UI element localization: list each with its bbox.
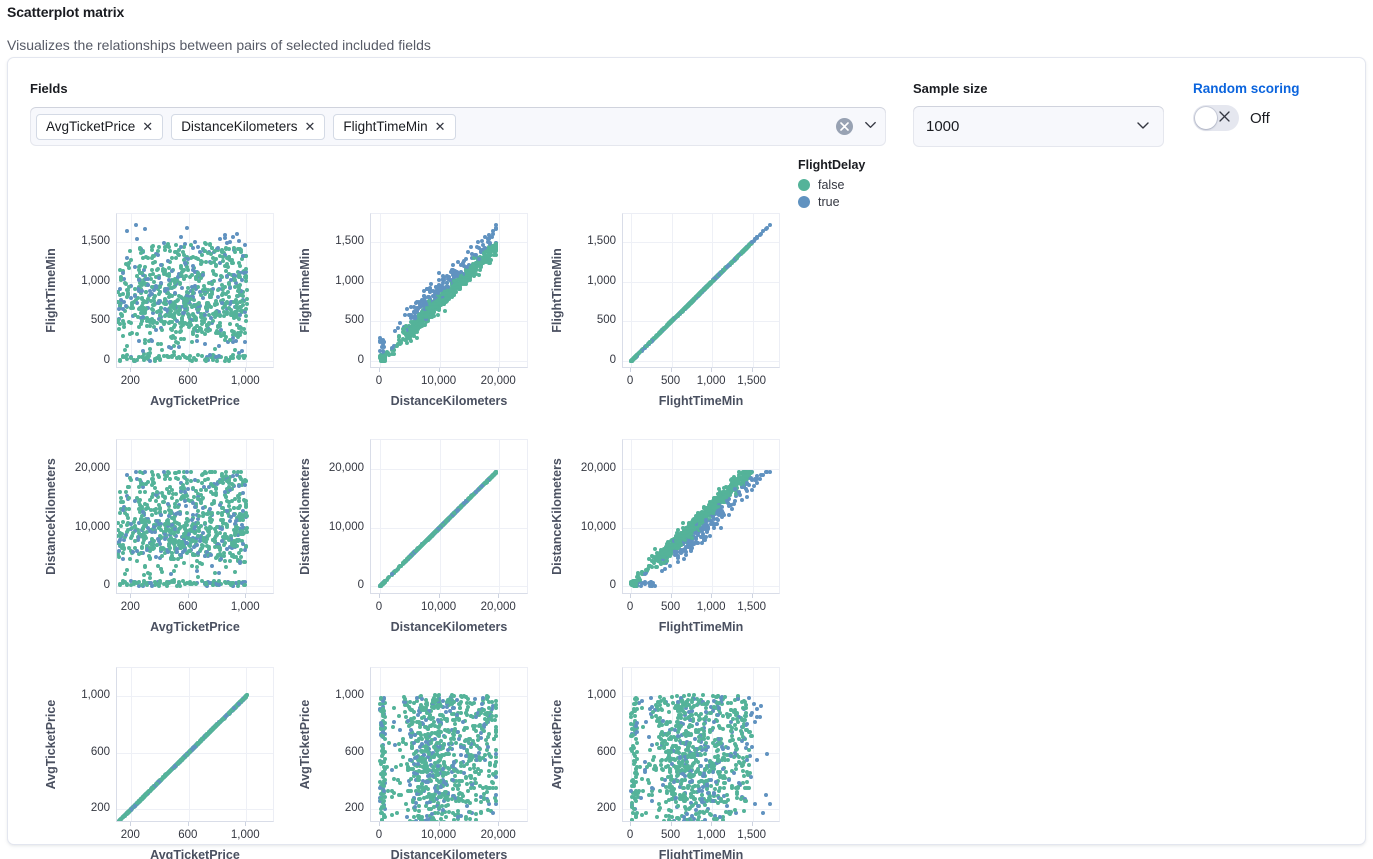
axis-tick-mark — [130, 368, 131, 372]
data-point — [168, 540, 172, 544]
data-point — [181, 550, 185, 554]
data-point — [173, 541, 177, 545]
data-point — [148, 273, 152, 277]
data-point — [216, 295, 220, 299]
x-axis-tick-label: 20,000 — [481, 601, 516, 613]
data-point — [152, 254, 156, 258]
data-point — [452, 283, 456, 287]
data-point — [195, 559, 199, 563]
x-axis-title: FlightTimeMin — [622, 394, 780, 408]
data-point — [163, 510, 167, 514]
data-point — [129, 478, 133, 482]
data-point — [195, 543, 199, 547]
data-point — [152, 299, 156, 303]
data-point — [437, 271, 441, 275]
data-point — [245, 302, 249, 306]
data-point — [159, 281, 163, 285]
gridline — [623, 282, 779, 283]
data-point — [165, 487, 169, 491]
x-axis-tick-label: 0 — [627, 375, 633, 387]
field-pill-flighttimemin[interactable]: FlightTimeMin ✕ — [333, 114, 455, 140]
data-point — [223, 264, 227, 268]
data-point — [148, 351, 152, 355]
data-point — [128, 557, 132, 561]
cross-icon — [1219, 109, 1230, 127]
data-point — [127, 496, 131, 500]
axis-tick-mark — [671, 368, 672, 372]
scatterplot-matrix: 2006001,00005001,0001,500AvgTicketPriceF… — [8, 151, 798, 841]
data-point — [141, 541, 145, 545]
data-point — [210, 246, 214, 250]
data-point — [158, 285, 162, 289]
data-point — [170, 496, 174, 500]
data-point — [127, 485, 131, 489]
data-point — [126, 528, 130, 532]
data-point — [160, 491, 164, 495]
data-point — [211, 538, 215, 542]
data-point — [125, 513, 129, 517]
data-point — [232, 555, 236, 559]
x-axis-tick-label: 200 — [121, 601, 140, 613]
data-point — [155, 268, 159, 272]
data-point — [204, 471, 208, 475]
data-point — [213, 347, 217, 351]
gridline — [371, 469, 527, 470]
x-axis-tick-label: 600 — [178, 375, 197, 387]
x-axis-tick-label: 0 — [376, 375, 382, 387]
y-axis-tick-label: 20,000 — [314, 462, 364, 474]
combobox-actions — [836, 117, 878, 137]
data-point — [195, 569, 199, 573]
gridline — [371, 321, 527, 322]
data-point — [159, 528, 163, 532]
data-point — [232, 513, 236, 517]
fields-label: Fields — [30, 81, 68, 96]
data-point — [188, 320, 192, 324]
data-point — [245, 288, 249, 292]
data-point — [232, 330, 236, 334]
data-point — [485, 479, 489, 483]
data-point — [182, 337, 186, 341]
data-point — [160, 554, 164, 558]
data-point — [492, 253, 496, 257]
data-point — [221, 259, 225, 263]
random-scoring-toggle[interactable] — [1193, 105, 1239, 131]
data-point — [121, 500, 125, 504]
data-point — [186, 487, 190, 491]
data-point — [182, 268, 186, 272]
data-point — [395, 344, 399, 348]
scatter-cell-r0-c2[interactable] — [622, 213, 780, 368]
data-point — [244, 279, 248, 283]
data-point — [170, 523, 174, 527]
data-point — [472, 256, 476, 260]
data-point — [474, 265, 478, 269]
data-point — [197, 279, 201, 283]
data-point — [121, 520, 125, 524]
data-point — [477, 273, 481, 277]
data-point — [222, 314, 226, 318]
data-point — [201, 496, 205, 500]
data-point — [177, 345, 181, 349]
data-point — [214, 331, 218, 335]
data-point — [235, 232, 239, 236]
data-point — [244, 505, 248, 509]
data-point — [174, 471, 178, 475]
field-pill-avgticketprice[interactable]: AvgTicketPrice ✕ — [36, 114, 163, 140]
data-point — [654, 335, 658, 339]
data-point — [166, 518, 170, 522]
data-point — [121, 557, 125, 561]
data-point — [212, 272, 216, 276]
data-point — [240, 349, 244, 353]
clear-circle-icon[interactable] — [836, 118, 853, 135]
data-point — [239, 305, 243, 309]
data-point — [211, 358, 215, 362]
data-point — [194, 358, 198, 362]
data-point — [231, 261, 235, 265]
gridline — [131, 214, 132, 367]
data-point — [148, 546, 152, 550]
data-point — [141, 315, 145, 319]
data-point — [235, 323, 239, 327]
data-point — [761, 229, 765, 233]
data-point — [185, 517, 189, 521]
data-point — [446, 285, 450, 289]
data-point — [225, 241, 229, 245]
data-point — [204, 242, 208, 246]
data-point — [179, 235, 183, 239]
data-point — [202, 284, 206, 288]
data-point — [162, 322, 166, 326]
data-point — [196, 509, 200, 513]
data-point — [118, 287, 122, 291]
data-point — [200, 253, 204, 257]
data-point — [405, 341, 409, 345]
data-point — [405, 307, 409, 311]
data-point — [166, 502, 170, 506]
data-point — [140, 505, 144, 509]
data-point — [203, 332, 207, 336]
y-axis-tick-label: 1,000 — [314, 275, 364, 287]
data-point — [135, 332, 139, 336]
data-point — [176, 505, 180, 509]
page-title: Scatterplot matrix — [7, 4, 124, 20]
data-point — [209, 261, 213, 265]
data-point — [150, 584, 154, 588]
axis-tick-mark — [439, 594, 440, 598]
data-point — [238, 512, 242, 516]
data-point — [429, 282, 433, 286]
data-point — [722, 268, 726, 272]
data-point — [232, 273, 236, 277]
data-point — [194, 318, 198, 322]
y-axis-tick-label: 1,500 — [314, 235, 364, 247]
data-point — [238, 283, 242, 287]
data-point — [139, 322, 143, 326]
data-point — [232, 506, 236, 510]
sample-size-select[interactable]: 1000 — [913, 106, 1164, 147]
data-point — [174, 256, 178, 260]
x-axis-tick-label: 600 — [178, 601, 197, 613]
data-point — [121, 271, 125, 275]
data-point — [243, 548, 247, 552]
data-point — [443, 309, 447, 313]
scatter-cell-r1-c1[interactable] — [370, 439, 528, 594]
data-point — [206, 477, 210, 481]
data-point — [668, 321, 672, 325]
data-point — [190, 518, 194, 522]
data-point — [131, 531, 135, 535]
data-point — [423, 540, 427, 544]
data-point — [133, 294, 137, 298]
data-point — [434, 302, 438, 306]
scatter-cell-r0-c1[interactable] — [370, 213, 528, 368]
y-axis-tick-label: 0 — [314, 579, 364, 591]
data-point — [396, 326, 400, 330]
data-point — [740, 498, 744, 502]
data-point — [167, 321, 171, 325]
data-point — [163, 496, 167, 500]
data-point — [213, 571, 217, 575]
data-point — [188, 580, 192, 584]
y-axis-title: FlightTimeMin — [44, 213, 58, 368]
data-point — [193, 505, 197, 509]
y-axis-tick-label: 1,500 — [60, 235, 110, 247]
data-point — [187, 325, 191, 329]
data-point — [155, 310, 159, 314]
scatter-cell-r1-c0[interactable] — [116, 439, 274, 594]
data-point — [236, 470, 240, 474]
data-point — [140, 355, 144, 359]
data-point — [194, 582, 198, 586]
data-point — [220, 479, 224, 483]
data-point — [168, 249, 172, 253]
data-point — [228, 559, 232, 563]
data-point — [160, 328, 164, 332]
data-point — [192, 553, 196, 557]
y-axis-title: DistanceKilometers — [44, 439, 58, 594]
data-point — [123, 348, 127, 352]
data-point — [195, 334, 199, 338]
data-point — [213, 527, 217, 531]
data-point — [243, 483, 247, 487]
data-point — [177, 312, 181, 316]
y-axis-title: FlightTimeMin — [550, 213, 564, 368]
data-point — [116, 300, 120, 304]
data-point — [224, 335, 228, 339]
data-point — [141, 349, 145, 353]
data-point — [117, 555, 121, 559]
data-point — [203, 342, 207, 346]
axis-tick-mark — [498, 368, 499, 372]
data-point — [154, 328, 158, 332]
data-point — [148, 557, 152, 561]
axis-tick-mark — [630, 368, 631, 372]
data-point — [122, 547, 126, 551]
data-point — [429, 309, 433, 313]
data-point — [163, 248, 167, 252]
gridline — [623, 586, 779, 587]
data-point — [173, 323, 177, 327]
data-point — [207, 304, 211, 308]
data-point — [237, 499, 241, 503]
data-point — [129, 356, 133, 360]
data-point — [125, 568, 129, 572]
y-axis-tick-label: 10,000 — [314, 521, 364, 533]
gridline — [499, 214, 500, 367]
data-point — [169, 557, 173, 561]
data-point — [197, 514, 201, 518]
scatter-cell-r1-c2[interactable] — [622, 439, 780, 594]
data-point — [183, 532, 187, 536]
data-point — [436, 291, 440, 295]
data-point — [709, 281, 713, 285]
data-point — [213, 303, 217, 307]
data-point — [201, 531, 205, 535]
data-point — [228, 338, 232, 342]
data-point — [152, 288, 156, 292]
data-point — [140, 289, 144, 293]
data-point — [156, 253, 160, 257]
data-point — [173, 281, 177, 285]
chevron-down-icon[interactable] — [1135, 117, 1151, 137]
y-axis-tick-label: 0 — [314, 354, 364, 366]
data-point — [118, 359, 122, 363]
chevron-down-icon[interactable] — [863, 117, 878, 137]
axis-tick-mark — [379, 368, 380, 372]
y-axis-tick-label: 1,000 — [60, 275, 110, 287]
data-point — [116, 528, 120, 532]
data-point — [178, 330, 182, 334]
data-point — [193, 478, 197, 482]
y-axis-title: DistanceKilometers — [298, 439, 312, 594]
data-point — [140, 583, 144, 587]
data-point — [177, 305, 181, 309]
data-point — [125, 344, 129, 348]
y-axis-tick-label: 0 — [566, 354, 616, 366]
data-point — [176, 477, 180, 481]
data-point — [399, 564, 403, 568]
data-point — [181, 321, 185, 325]
data-point — [243, 331, 247, 335]
axis-tick-mark — [245, 368, 246, 372]
data-point — [403, 313, 407, 317]
x-axis-tick-label: 500 — [661, 375, 680, 387]
data-point — [150, 248, 154, 252]
axis-tick-mark — [379, 594, 380, 598]
data-point — [173, 300, 177, 304]
data-point — [158, 290, 162, 294]
cross-icon[interactable]: ✕ — [435, 120, 446, 133]
data-point — [436, 313, 440, 317]
data-point — [474, 261, 478, 265]
data-point — [237, 484, 241, 488]
cross-icon[interactable]: ✕ — [142, 120, 153, 133]
gridline — [440, 440, 441, 593]
data-point — [219, 328, 223, 332]
data-point — [485, 254, 489, 258]
gridline — [631, 440, 632, 593]
data-point — [216, 288, 220, 292]
y-axis-tick-label: 1,500 — [566, 235, 616, 247]
random-scoring-control[interactable]: Off — [1193, 105, 1270, 131]
data-point — [183, 499, 187, 503]
x-axis-tick-label: 1,000 — [697, 375, 726, 387]
y-axis-tick-label: 500 — [314, 314, 364, 326]
data-point — [200, 546, 204, 550]
data-point — [150, 339, 154, 343]
gridline — [623, 321, 779, 322]
data-point — [220, 249, 224, 253]
data-point — [118, 293, 122, 297]
fields-combobox[interactable]: AvgTicketPrice ✕ DistanceKilometers ✕ Fl… — [30, 107, 886, 146]
data-point — [130, 331, 134, 335]
data-point — [118, 490, 122, 494]
data-point — [203, 521, 207, 525]
data-point — [120, 314, 124, 318]
cross-icon[interactable]: ✕ — [304, 120, 315, 133]
data-point — [420, 543, 424, 547]
data-point — [241, 491, 245, 495]
toggle-knob — [1195, 107, 1217, 129]
data-point — [224, 522, 228, 526]
data-point — [141, 301, 145, 305]
data-point — [196, 245, 200, 249]
data-point — [137, 339, 141, 343]
x-axis-title: AvgTicketPrice — [116, 394, 274, 408]
data-point — [191, 313, 195, 317]
random-scoring-state: Off — [1250, 110, 1270, 127]
data-point — [444, 296, 448, 300]
data-point — [437, 278, 441, 282]
data-point — [213, 249, 217, 253]
data-point — [205, 537, 209, 541]
field-pill-distancekilometers[interactable]: DistanceKilometers ✕ — [171, 114, 325, 140]
y-axis-tick-label: 0 — [60, 354, 110, 366]
data-point — [125, 229, 129, 233]
data-point — [211, 583, 215, 587]
x-axis-title: DistanceKilometers — [370, 394, 528, 408]
data-point — [238, 313, 242, 317]
data-point — [143, 341, 147, 345]
data-point — [178, 356, 182, 360]
gridline — [672, 214, 673, 367]
data-point — [244, 314, 248, 318]
data-point — [133, 313, 137, 317]
data-point — [159, 342, 163, 346]
data-point — [146, 571, 150, 575]
data-point — [192, 327, 196, 331]
scatter-cell-r0-c0[interactable] — [116, 213, 274, 368]
data-point — [225, 547, 229, 551]
data-point — [399, 341, 403, 345]
data-point — [210, 470, 214, 474]
data-point — [166, 259, 170, 263]
gridline — [371, 586, 527, 587]
x-axis-tick-label: 20,000 — [481, 375, 516, 387]
data-point — [215, 359, 219, 363]
data-point — [174, 492, 178, 496]
field-pill-label: DistanceKilometers — [181, 119, 297, 134]
data-point — [127, 507, 131, 511]
data-point — [192, 304, 196, 308]
data-point — [118, 511, 122, 515]
data-point — [174, 243, 178, 247]
data-point — [414, 326, 418, 330]
data-point — [129, 583, 133, 587]
axis-tick-mark — [130, 594, 131, 598]
